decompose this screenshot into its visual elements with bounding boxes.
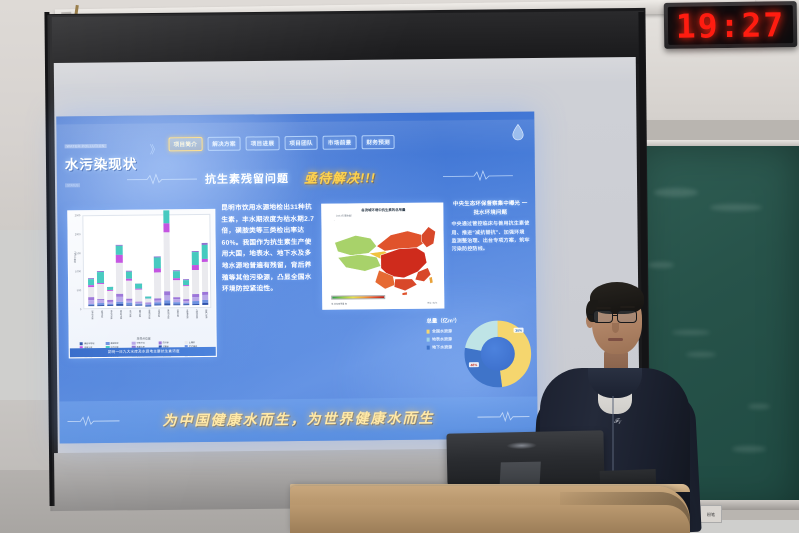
antibiotic-concentration-chart-card: 25002000150010005000 浓度 (ng/L) 松华坝水库云龙水库… [67, 209, 217, 359]
map-unit-note: 单位: 吨/年 [427, 302, 437, 305]
presentation-slide: WATER POLLUTION 水污染现状 STATUS 》 项目简介 解决方案… [56, 112, 537, 444]
legend-swatch-ground [427, 346, 430, 349]
chart-legend-swatch [158, 356, 161, 358]
chart-bar-segment [155, 304, 161, 305]
chart-bar-segment [116, 263, 123, 294]
donut-legend-item: 全国水资源 [427, 328, 452, 334]
chart-legend-swatch [185, 356, 188, 358]
chart-bar-segment [88, 287, 94, 297]
chart-bar-segment [183, 304, 189, 305]
map-subtitle: （2013年度数据） [334, 213, 353, 217]
chart-x-tick: 清水海水库 [106, 310, 112, 336]
presenter-jacket-logo: 𝓕𝓏 [614, 417, 648, 428]
china-antibiotic-usage-map-card: 各流域环境中抗生素的总用量 （2013年度数据） ↑ [321, 202, 444, 309]
presenter-nose [612, 323, 619, 333]
chart-bar [97, 271, 104, 306]
donut-legend-item: 地表水资源 [427, 336, 452, 342]
classroom-presentation-scene: 粉笔 19:27 WATER POLLUTION 水污染现状 STATUS 》 … [0, 0, 799, 533]
chart-legend-swatch [106, 342, 109, 344]
chalk-box: 粉笔 [700, 505, 722, 523]
chart-bar-segment [163, 209, 169, 224]
slide-subtitle-row: 抗生素残留问题 亟待解决!!! [57, 164, 535, 191]
heartbeat-line-icon-bottom-right [477, 411, 529, 424]
chart-bar-segment [192, 252, 198, 265]
chart-legend-swatch [184, 342, 187, 344]
map-title: 各流域环境中抗生素的总用量 [322, 206, 444, 212]
chart-x-tick: 云龙水库 [97, 310, 103, 336]
chart-bar-segment [202, 303, 208, 305]
chart-bar-segment [193, 304, 199, 306]
chart-bar-segment [117, 304, 123, 306]
chart-bar-segment [183, 286, 189, 299]
chart-bar-segment [201, 245, 207, 260]
tab-solution[interactable]: 解决方案 [207, 137, 241, 151]
monitor-brand-logo [507, 442, 537, 450]
slide-subtitle-main: 抗生素残留问题 [205, 170, 289, 187]
chart-bar-segment [202, 262, 209, 292]
chart-bar [126, 271, 133, 306]
slide-content: 25002000150010005000 浓度 (ng/L) 松华坝水库云龙水库… [57, 194, 537, 399]
water-resource-donut-chart: 总量（亿m³） 全国水资源 地表水资源 地下水资源 [426, 314, 532, 401]
chart-bars [87, 219, 208, 306]
chart-y-axis-label: 浓度 (ng/L) [73, 248, 77, 266]
chart-bar-segment [164, 304, 170, 306]
chart-bar-segment [107, 291, 113, 300]
presenter-brow-right [620, 306, 635, 308]
tab-project-intro[interactable]: 项目简介 [169, 137, 203, 151]
chart-y-tick: 1000 [75, 271, 81, 274]
chart-x-tick: 自卫村水库 [116, 310, 122, 336]
chart-bar-segment [174, 304, 180, 305]
chart-y-tick: 500 [77, 289, 81, 292]
wall-clock: 19:27 [664, 1, 798, 49]
chart-y-tick: 0 [80, 308, 81, 311]
tab-project-progress[interactable]: 项目进展 [246, 136, 280, 150]
chart-x-tick: 白鱼口水源 [201, 309, 207, 335]
chart-x-tick: 松华坝水库 [87, 310, 93, 336]
chart-legend-label: 四环素 [163, 341, 169, 344]
chart-y-tick: 2500 [75, 214, 81, 217]
chart-bar-segment [163, 232, 170, 291]
chart-bar [154, 256, 161, 305]
chart-x-tick: 果马河水库 [163, 309, 169, 335]
legend-swatch-surface [427, 338, 430, 341]
chart-x-tick: 石鼻水库 [173, 309, 179, 335]
heartbeat-line-icon-right [443, 170, 513, 183]
clock-display: 19:27 [668, 5, 794, 45]
chart-bar-segment [173, 280, 179, 298]
chart-bar [116, 245, 123, 306]
donut-label-ground: 30% [514, 328, 524, 333]
tab-project-team[interactable]: 项目团队 [284, 136, 318, 150]
policy-panel: 中央生态环保督察集中曝光 一批水环境问题 中央通过管控临床与兽用抗生素使用、推进… [451, 200, 530, 255]
chart-bar [88, 278, 94, 307]
donut-legend: 全国水资源 地表水资源 地下水资源 [427, 328, 453, 352]
chart-bar-segment [126, 271, 132, 279]
water-droplet-icon [511, 124, 524, 141]
chart-bar-segment [126, 305, 132, 306]
slide-subtitle-accent: 亟待解决!!! [304, 167, 376, 187]
chart-bar [183, 279, 189, 305]
chart-x-tick: 大河水库 [125, 310, 131, 336]
slide-nav-tabs[interactable]: 项目简介 解决方案 项目进展 项目团队 市场前景 财务预测 [169, 135, 396, 151]
chart-y-tick: 2000 [75, 233, 81, 236]
chart-bar-segment [163, 223, 169, 232]
donut-center [481, 337, 515, 371]
chart-bar [163, 209, 170, 306]
chart-bar [173, 270, 180, 305]
chart-bar-segment [107, 305, 113, 306]
chart-bar-segment [136, 305, 142, 306]
donut-legend-item: 地下水资源 [427, 344, 452, 350]
chart-bar-segment [136, 290, 142, 302]
presenter-brow-left [596, 307, 611, 309]
chart-bar-segment [98, 284, 104, 299]
chart-bar-segment [154, 273, 160, 299]
tab-financial-forecast[interactable]: 财务预测 [361, 135, 395, 149]
legend-label-ground: 地下水资源 [432, 344, 452, 350]
chart-card-caption: 昆明一日九大水库及水源地主要抗生素浓度 [70, 347, 217, 358]
policy-body: 中央通过管控临床与兽用抗生素使用、推进“减抗替抗”、加强环境监测整治理、出台专项… [451, 220, 529, 254]
clock-time: 19:27 [676, 5, 786, 46]
chart-bar [192, 251, 199, 305]
podium-front-panel [290, 505, 690, 533]
glasses-lens-left [593, 310, 613, 323]
chart-legend-swatch [158, 342, 161, 344]
map-scale-label: 低 抗生素用量 高 [331, 302, 347, 305]
chart-bar [135, 283, 141, 305]
donut-title: 总量（亿m³） [426, 316, 460, 324]
slide-header: WATER POLLUTION 水污染现状 STATUS 》 项目简介 解决方案… [56, 120, 534, 159]
chart-bar-segment [98, 305, 104, 306]
policy-title: 中央生态环保督察集中曝光 一批水环境问题 [451, 200, 529, 218]
chart-x-tick: 柴河水库 [135, 310, 141, 336]
chart-legend-swatch [132, 342, 135, 344]
chart-x-tick: 大龙潭水源 [182, 309, 188, 335]
tab-market-outlook[interactable]: 市场前景 [323, 135, 357, 149]
chart-bar-segment [116, 246, 122, 255]
legend-swatch-national [427, 330, 430, 333]
chart-bar-segment [154, 257, 160, 268]
donut-label-national: 48% [469, 362, 479, 367]
chart-bar [145, 297, 151, 306]
legend-label-national: 全国水资源 [432, 328, 452, 334]
slide-slogan: 为中国健康水而生，为世界健康水而生 [59, 406, 537, 431]
chart-x-tick: 九龙池水源 [192, 309, 198, 335]
chart-bar-segment [192, 270, 198, 294]
chart-x-tick: 宝象河水库 [144, 310, 150, 336]
heartbeat-line-icon-left [127, 173, 197, 186]
chart-bar-segment [88, 305, 94, 306]
chart-legend-swatch [132, 356, 135, 358]
chart-legend-swatch [80, 343, 83, 345]
slide-title-eng-top: WATER POLLUTION [65, 144, 107, 148]
chart-x-tick-labels: 松华坝水库云龙水库清水海水库自卫村水库大河水库柴河水库宝象河水库双龙水库果马河水… [87, 309, 207, 336]
glasses-lens-right [617, 310, 637, 323]
pollution-status-text: 昆明市饮用水源地检出31种抗生素，丰水期浓度为枯水期2.7倍，磺胺类等三类检出率… [221, 202, 317, 363]
chart-bar [107, 287, 113, 306]
china-map-heatmap [328, 220, 439, 297]
map-color-scale [331, 295, 385, 300]
presenter-mouth [608, 338, 623, 341]
chart-plot-area [82, 214, 211, 309]
chevron-right-icon: 》 [150, 141, 159, 157]
chart-bar-segment [126, 281, 132, 299]
chart-x-tick: 双龙水库 [154, 309, 160, 335]
eyeglasses-icon [592, 310, 642, 323]
chart-bar-segment [116, 255, 122, 263]
chart-bar-segment [97, 272, 103, 283]
chart-bar [201, 243, 208, 305]
legend-label-surface: 地表水资源 [432, 336, 452, 342]
